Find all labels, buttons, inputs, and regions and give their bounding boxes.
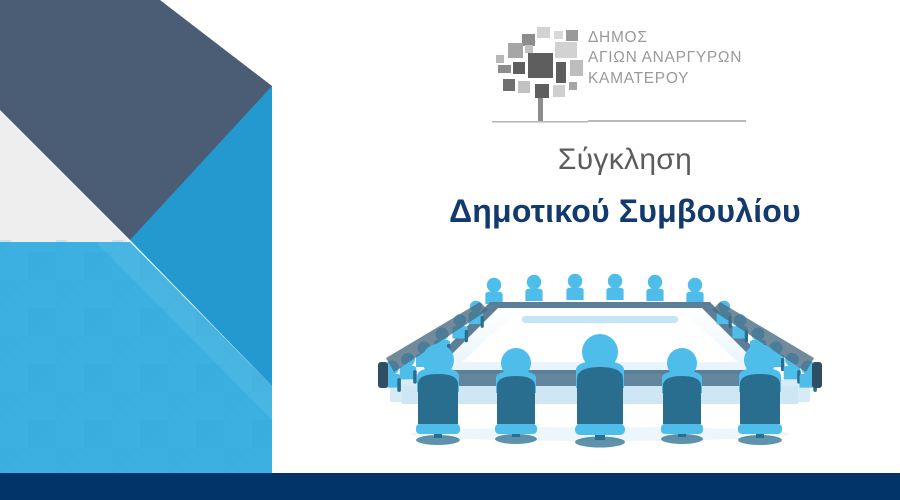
page-title: Δημοτικού Συμβουλίου	[390, 195, 860, 227]
logo-wordmark-line-1: ΔΗΜΟΣ	[588, 28, 758, 48]
banner-root: ΔΗΜΟΣ ΑΓΙΩΝ ΑΝΑΡΓΥΡΩΝ ΚΑΜΑΤΕΡΟΥ Σύγκληση…	[0, 0, 900, 500]
footer-bar	[0, 473, 900, 500]
logo-wordmark-line-2: ΑΓΙΩΝ ΑΝΑΡΓΥΡΩΝ	[588, 48, 758, 68]
back-row-people	[485, 274, 703, 304]
municipality-logo: ΔΗΜΟΣ ΑΓΙΩΝ ΑΝΑΡΓΥΡΩΝ ΚΑΜΑΤΕΡΟΥ	[492, 22, 752, 132]
logo-wordmark-line-3: ΚΑΜΑΤΕΡΟΥ	[588, 69, 758, 89]
diagonal-geometric-art	[0, 0, 300, 480]
heading-group: Σύγκληση Δημοτικού Συμβουλίου	[390, 145, 860, 227]
logo-wordmark: ΔΗΜΟΣ ΑΓΙΩΝ ΑΝΑΡΓΥΡΩΝ ΚΑΜΑΤΕΡΟΥ	[588, 28, 758, 89]
council-meeting-illustration	[372, 258, 828, 448]
eyebrow-title: Σύγκληση	[390, 145, 860, 175]
tree-of-squares-logo-icon	[492, 22, 588, 126]
logo-divider-line	[588, 120, 746, 122]
